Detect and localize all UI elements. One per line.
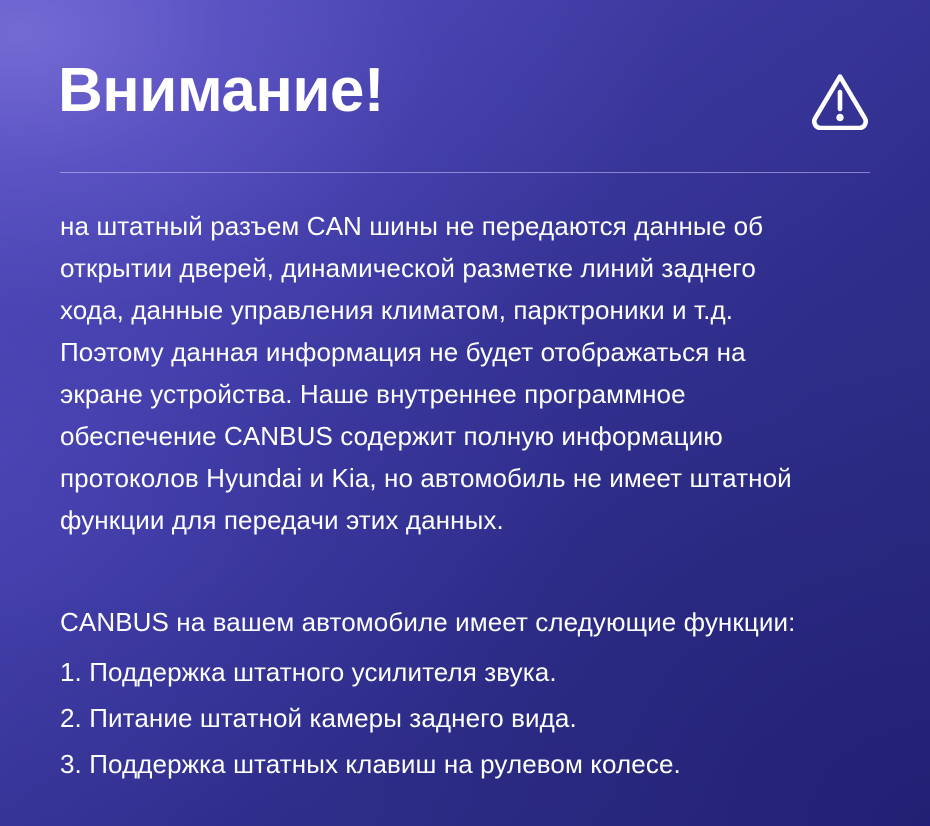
banner-content: на штатный разъем CAN шины не передаются… [60,205,875,787]
notice-line: на штатный разъем CAN шины не передаются… [60,205,875,247]
notice-line: протоколов Hyundai и Kia, но автомобиль … [60,457,875,499]
features-lead: CANBUS на вашем автомобиле имеет следующ… [60,601,875,643]
notice-paragraph: на штатный разъем CAN шины не передаются… [60,205,875,541]
header-divider [60,172,870,173]
notice-line: хода, данные управления климатом, парктр… [60,289,875,331]
warning-banner: Внимание! на штатный разъем CAN шины не … [0,0,930,826]
features-block: CANBUS на вашем автомобиле имеет следующ… [60,601,875,787]
page-title: Внимание! [58,52,384,130]
notice-line: экране устройства. Наше внутреннее прогр… [60,373,875,415]
list-item: 3. Поддержка штатных клавиш на рулевом к… [60,741,875,787]
banner-header: Внимание! [58,52,872,144]
notice-line: открытии дверей, динамической разметке л… [60,247,875,289]
notice-line: Поэтому данная информация не будет отобр… [60,331,875,373]
notice-line: обеспечение CANBUS содержит полную инфор… [60,415,875,457]
notice-line: функции для передачи этих данных. [60,499,875,541]
list-item: 2. Питание штатной камеры заднего вида. [60,695,875,741]
features-list: 1. Поддержка штатного усилителя звука. 2… [60,649,875,787]
warning-triangle-icon [808,66,872,130]
list-item: 1. Поддержка штатного усилителя звука. [60,649,875,695]
